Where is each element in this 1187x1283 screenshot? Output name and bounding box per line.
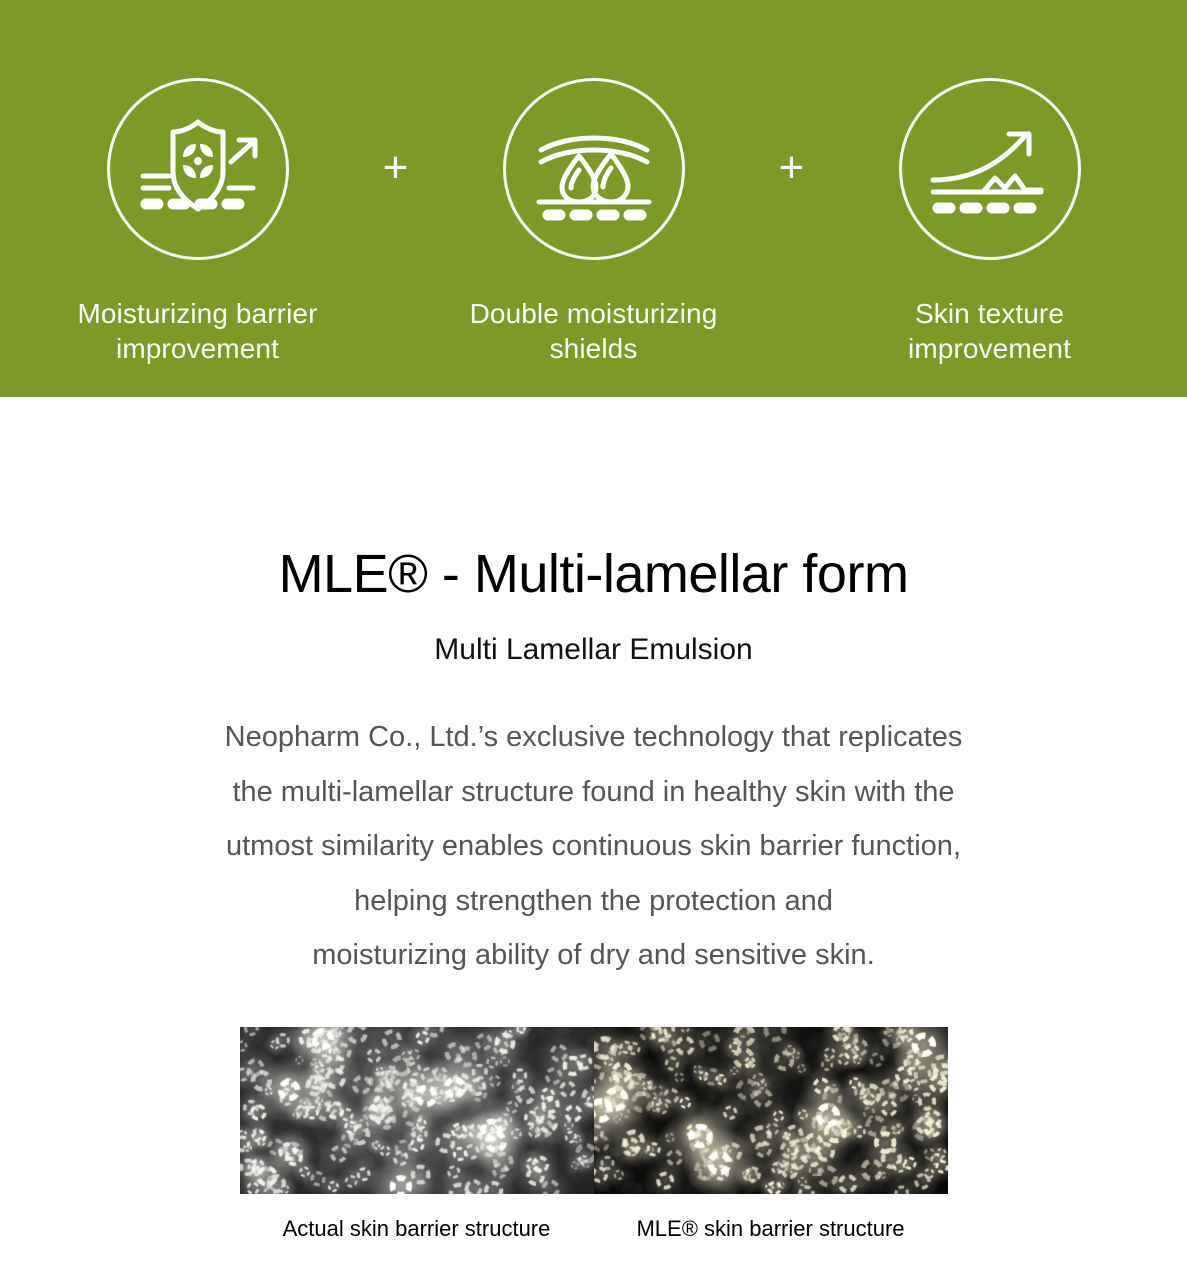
mle-description-line: utmost similarity enables continuous ski… <box>149 819 1039 874</box>
mle-skin-barrier-micrograph <box>594 1027 948 1194</box>
figure-caption: MLE® skin barrier structure <box>594 1216 948 1242</box>
benefits-band: Moisturizing barrier improvement + <box>0 0 1187 397</box>
rising-arrow-graph-icon <box>925 114 1055 224</box>
benefit-separator-plus-icon: + <box>368 78 424 190</box>
mle-description-line: Neopharm Co., Ltd.’s exclusive technolog… <box>149 710 1039 765</box>
benefit-label: Skin texture improvement <box>908 296 1071 366</box>
benefit-item-moisturizing-barrier: Moisturizing barrier improvement <box>28 78 368 366</box>
benefit-item-double-moisturizing: Double moisturizing shields <box>424 78 764 366</box>
benefit-icon-circle <box>503 78 685 260</box>
actual-skin-barrier-micrograph <box>240 1027 594 1194</box>
benefit-separator-plus-icon: + <box>764 78 820 190</box>
mle-section: MLE® - Multi-lamellar form Multi Lamella… <box>0 397 1187 1242</box>
benefits-row: Moisturizing barrier improvement + <box>0 0 1187 366</box>
page-title: MLE® - Multi-lamellar form <box>0 545 1187 604</box>
shield-flower-arrow-icon <box>133 114 263 224</box>
figure-mle-skin-barrier: MLE® skin barrier structure <box>594 1027 948 1242</box>
benefit-label: Double moisturizing shields <box>470 296 718 366</box>
mle-description-line: moisturizing ability of dry and sensitiv… <box>149 928 1039 983</box>
double-water-drop-shield-icon <box>529 114 659 224</box>
benefit-icon-circle <box>899 78 1081 260</box>
benefit-label: Moisturizing barrier improvement <box>77 296 317 366</box>
mle-description-line: helping strengthen the protection and <box>149 874 1039 929</box>
benefit-item-skin-texture: Skin texture improvement <box>820 78 1160 366</box>
benefit-icon-circle <box>107 78 289 260</box>
mle-description-line: the multi-lamellar structure found in he… <box>149 765 1039 820</box>
page-subtitle: Multi Lamellar Emulsion <box>0 632 1187 668</box>
figure-actual-skin-barrier: Actual skin barrier structure <box>240 1027 594 1242</box>
mle-description: Neopharm Co., Ltd.’s exclusive technolog… <box>149 710 1039 983</box>
figure-caption: Actual skin barrier structure <box>240 1216 594 1242</box>
micrograph-comparison: Actual skin barrier structure MLE® skin … <box>0 1027 1187 1242</box>
